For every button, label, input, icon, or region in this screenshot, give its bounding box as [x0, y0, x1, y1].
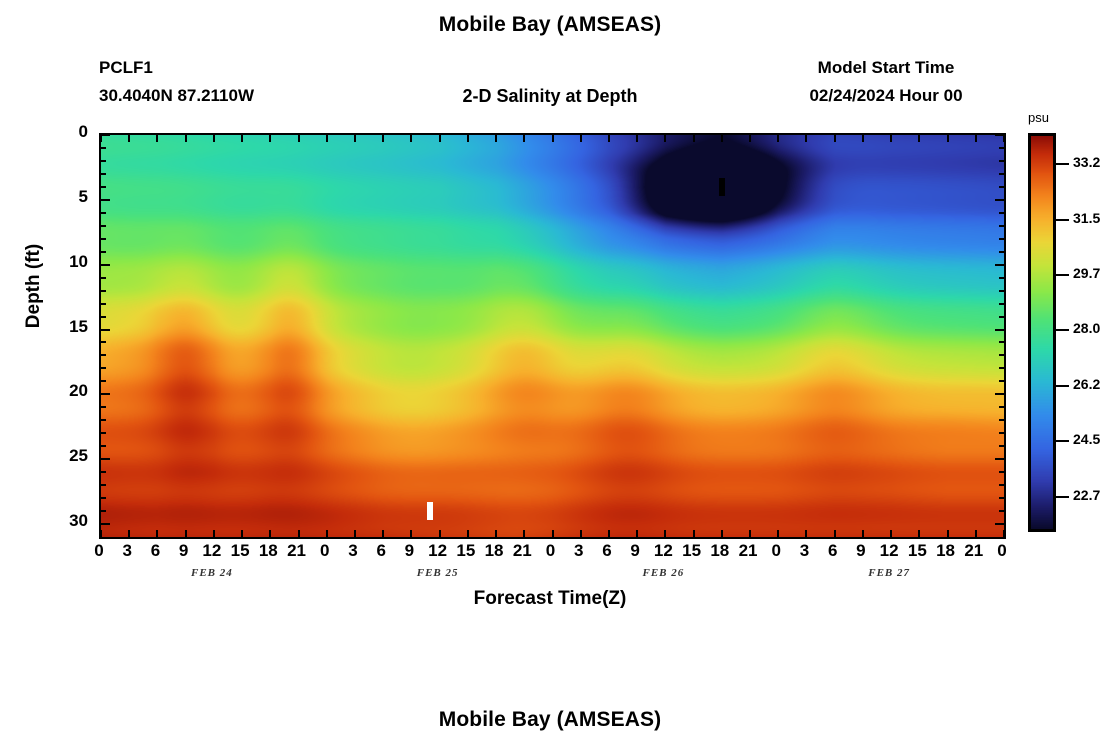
y-axis-tick — [101, 238, 106, 240]
y-tick-label: 0 — [42, 122, 88, 142]
x-axis-tick — [439, 530, 441, 537]
chart-subtitle: 2-D Salinity at Depth — [330, 86, 770, 107]
x-axis-tick — [777, 530, 779, 537]
y-axis-tick — [101, 147, 106, 149]
x-axis-tick — [410, 530, 412, 537]
y-axis-tick — [101, 354, 106, 356]
x-axis-tick — [947, 135, 949, 142]
colorbar-tick — [1056, 385, 1069, 387]
y-axis-tick — [999, 445, 1004, 447]
y-axis-tick — [995, 134, 1004, 136]
colorbar-tick-label: 26.250 — [1073, 376, 1100, 392]
y-axis-tick — [999, 290, 1004, 292]
x-axis-tick — [354, 530, 356, 537]
x-axis-tick — [156, 530, 158, 537]
x-axis-tick — [213, 135, 215, 142]
y-axis-tick — [101, 341, 106, 343]
x-axis-tick — [552, 530, 554, 537]
x-axis-tick — [1003, 135, 1005, 142]
x-axis-tick — [100, 135, 102, 142]
day-label: FEB 27 — [844, 567, 934, 579]
y-axis-tick — [999, 225, 1004, 227]
x-axis-tick — [862, 135, 864, 142]
y-axis-tick — [101, 406, 106, 408]
day-label: FEB 26 — [618, 567, 708, 579]
x-axis-tick — [975, 530, 977, 537]
y-axis-tick — [101, 523, 110, 525]
y-axis-tick — [101, 471, 106, 473]
colorbar-tick — [1056, 329, 1069, 331]
y-axis-tick — [999, 173, 1004, 175]
y-axis-tick — [999, 406, 1004, 408]
y-axis-tick — [101, 160, 106, 162]
x-axis-tick — [100, 530, 102, 537]
x-axis-tick — [580, 135, 582, 142]
y-axis-tick — [101, 186, 106, 188]
x-axis-tick — [213, 530, 215, 537]
y-axis-tick — [999, 510, 1004, 512]
y-axis-tick — [999, 419, 1004, 421]
x-axis-tick — [185, 135, 187, 142]
x-axis-title: Forecast Time(Z) — [330, 588, 770, 610]
x-axis-tick — [326, 530, 328, 537]
y-axis-tick — [999, 147, 1004, 149]
x-axis-tick — [834, 135, 836, 142]
x-axis-tick — [298, 135, 300, 142]
heatmap-plot-area — [99, 133, 1006, 539]
y-axis-tick — [101, 367, 106, 369]
y-axis-tick — [999, 316, 1004, 318]
colorbar-tick-label: 24.500 — [1073, 431, 1100, 447]
y-axis-tick — [101, 510, 106, 512]
page-title-bottom: Mobile Bay (AMSEAS) — [0, 708, 1100, 732]
y-axis-tick — [995, 523, 1004, 525]
y-axis-tick — [101, 380, 106, 382]
y-tick-label: 10 — [42, 252, 88, 272]
x-axis-tick — [128, 530, 130, 537]
deep-observation-marker-marker — [427, 502, 433, 520]
y-tick-label: 20 — [42, 381, 88, 401]
day-label: FEB 24 — [167, 567, 257, 579]
x-axis-tick — [382, 530, 384, 537]
colorbar-gradient — [1031, 136, 1053, 529]
y-axis-tick — [995, 199, 1004, 201]
x-axis-tick — [918, 530, 920, 537]
x-axis-tick — [326, 135, 328, 142]
y-axis-tick — [101, 316, 106, 318]
x-axis-tick — [467, 530, 469, 537]
y-axis-tick — [101, 497, 106, 499]
x-axis-tick — [156, 135, 158, 142]
y-axis-tick — [101, 290, 106, 292]
y-axis-tick — [999, 238, 1004, 240]
y-axis-tick — [101, 484, 106, 486]
colorbar-tick — [1056, 274, 1069, 276]
y-axis-tick — [101, 134, 110, 136]
x-axis-tick — [749, 530, 751, 537]
y-axis-tick — [101, 458, 110, 460]
x-axis-tick — [298, 530, 300, 537]
salinity-depth-figure: Mobile Bay (AMSEAS) PCLF1 30.4040N 87.21… — [0, 0, 1100, 750]
day-label: FEB 25 — [393, 567, 483, 579]
y-axis-tick — [999, 432, 1004, 434]
salinity-field-canvas — [101, 135, 1004, 537]
y-tick-label: 25 — [42, 446, 88, 466]
y-axis-tick — [101, 445, 106, 447]
x-axis-tick — [918, 135, 920, 142]
x-axis-tick — [439, 135, 441, 142]
colorbar-tick — [1056, 496, 1069, 498]
y-tick-label: 5 — [42, 187, 88, 207]
colorbar-tick — [1056, 219, 1069, 221]
y-axis-tick — [999, 341, 1004, 343]
colorbar — [1028, 133, 1056, 532]
colorbar-tick-label: 29.750 — [1073, 265, 1100, 281]
y-tick-label: 15 — [42, 317, 88, 337]
colorbar-tick-label: 28.000 — [1073, 320, 1100, 336]
y-axis-tick — [101, 432, 106, 434]
x-axis-tick — [410, 135, 412, 142]
x-axis-tick — [608, 135, 610, 142]
y-axis-tick — [101, 212, 106, 214]
x-axis-tick — [128, 135, 130, 142]
x-axis-tick — [580, 530, 582, 537]
model-start-time-value: 02/24/2024 Hour 00 — [760, 86, 1012, 106]
y-axis-tick — [101, 225, 106, 227]
x-axis-tick — [523, 530, 525, 537]
station-coordinates-label: 30.4040N 87.2110W — [99, 86, 254, 106]
x-axis-tick — [523, 135, 525, 142]
y-axis-tick — [999, 251, 1004, 253]
y-axis-tick — [101, 277, 106, 279]
colorbar-tick-label: 22.750 — [1073, 487, 1100, 503]
low-salinity-core-marker — [719, 178, 725, 196]
colorbar-tick — [1056, 163, 1069, 165]
x-axis-tick — [777, 135, 779, 142]
y-axis-tick — [995, 458, 1004, 460]
x-axis-tick — [185, 530, 187, 537]
y-axis-tick — [999, 484, 1004, 486]
x-axis-tick — [269, 530, 271, 537]
x-axis-tick — [890, 530, 892, 537]
y-axis-title: Depth (ft) — [23, 206, 45, 366]
x-tick-label: 0 — [982, 541, 1022, 561]
y-axis-tick — [101, 303, 106, 305]
x-axis-tick — [636, 530, 638, 537]
x-axis-tick — [693, 530, 695, 537]
y-axis-tick — [101, 199, 110, 201]
colorbar-tick-label: 31.500 — [1073, 210, 1100, 226]
x-axis-tick — [636, 135, 638, 142]
y-axis-tick — [999, 212, 1004, 214]
y-axis-tick — [101, 393, 110, 395]
x-axis-tick — [664, 135, 666, 142]
x-axis-tick — [495, 530, 497, 537]
x-axis-tick — [495, 135, 497, 142]
y-axis-tick — [995, 264, 1004, 266]
x-axis-tick — [693, 135, 695, 142]
y-axis-tick — [999, 497, 1004, 499]
x-axis-tick — [890, 135, 892, 142]
y-axis-tick — [999, 354, 1004, 356]
y-axis-tick — [995, 329, 1004, 331]
colorbar-unit-label: psu — [1028, 110, 1049, 125]
x-axis-tick — [805, 530, 807, 537]
x-axis-tick — [805, 135, 807, 142]
x-axis-tick — [608, 530, 610, 537]
y-axis-tick — [999, 277, 1004, 279]
y-axis-tick — [101, 329, 110, 331]
x-axis-tick — [467, 135, 469, 142]
y-axis-tick — [101, 173, 106, 175]
x-axis-tick — [354, 135, 356, 142]
x-axis-tick — [975, 135, 977, 142]
x-axis-tick — [382, 135, 384, 142]
y-axis-tick — [101, 264, 110, 266]
x-axis-tick — [241, 530, 243, 537]
y-axis-tick — [999, 186, 1004, 188]
x-axis-tick — [664, 530, 666, 537]
y-axis-tick — [999, 380, 1004, 382]
x-axis-tick — [269, 135, 271, 142]
x-axis-tick — [721, 135, 723, 142]
x-axis-tick — [834, 530, 836, 537]
y-axis-tick — [999, 471, 1004, 473]
station-id-label: PCLF1 — [99, 58, 153, 78]
x-axis-tick — [1003, 530, 1005, 537]
y-axis-tick — [101, 251, 106, 253]
page-title-top: Mobile Bay (AMSEAS) — [0, 13, 1100, 37]
colorbar-tick-label: 33.250 — [1073, 154, 1100, 170]
colorbar-tick — [1056, 440, 1069, 442]
x-axis-tick — [241, 135, 243, 142]
y-tick-label: 30 — [42, 511, 88, 531]
model-start-time-label: Model Start Time — [760, 58, 1012, 78]
y-axis-tick — [999, 160, 1004, 162]
y-axis-tick — [999, 303, 1004, 305]
y-axis-tick — [999, 367, 1004, 369]
y-axis-tick — [995, 393, 1004, 395]
x-axis-tick — [721, 530, 723, 537]
x-axis-tick — [862, 530, 864, 537]
y-axis-tick — [101, 419, 106, 421]
x-axis-tick — [947, 530, 949, 537]
x-axis-tick — [749, 135, 751, 142]
x-axis-tick — [552, 135, 554, 142]
